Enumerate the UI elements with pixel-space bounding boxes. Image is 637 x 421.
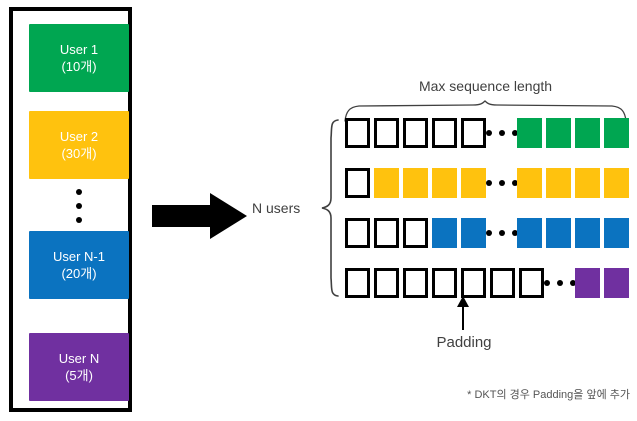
horizontal-ellipsis-icon xyxy=(486,178,518,188)
ellipsis-dot xyxy=(76,203,82,209)
ellipsis-dot xyxy=(499,180,505,186)
vertical-ellipsis-icon xyxy=(29,189,129,223)
sequence-cell xyxy=(517,218,542,248)
max-sequence-length-label: Max sequence length xyxy=(343,78,628,94)
padding-cell xyxy=(403,218,428,248)
sequence-cell xyxy=(575,268,600,298)
user-block-name: User N xyxy=(59,350,99,367)
sequence-row xyxy=(345,168,629,218)
ellipsis-dot xyxy=(557,280,563,286)
padding-pointer-arrow-icon xyxy=(455,296,471,330)
padding-cell xyxy=(345,218,370,248)
sequence-cell xyxy=(604,268,629,298)
user-block-count: (20개) xyxy=(61,265,96,282)
padding-cell xyxy=(374,218,399,248)
sequence-cell xyxy=(432,218,457,248)
right-arrow-icon xyxy=(152,192,248,240)
user-block: User N-1 (20개) xyxy=(29,231,129,299)
n-users-brace xyxy=(320,118,340,298)
user-list-container: User 1 (10개) User 2 (30개) User N-1 (20개)… xyxy=(9,7,132,412)
footnote-text: * DKT의 경우 Padding을 앞에 추가 xyxy=(0,386,630,402)
padding-cell xyxy=(345,118,370,148)
user-block-count: (10개) xyxy=(61,58,96,75)
sequence-cell xyxy=(604,168,629,198)
sequence-cell xyxy=(432,168,457,198)
ellipsis-dot xyxy=(499,230,505,236)
sequence-cell xyxy=(546,218,571,248)
sequence-cell xyxy=(374,168,399,198)
sequence-cell xyxy=(546,168,571,198)
sequence-cell xyxy=(575,118,600,148)
ellipsis-dot xyxy=(76,217,82,223)
ellipsis-dot xyxy=(544,280,550,286)
n-users-label: N users xyxy=(252,200,300,216)
padding-cell xyxy=(461,268,486,298)
user-block-name: User 2 xyxy=(60,128,98,145)
ellipsis-dot xyxy=(486,230,492,236)
ellipsis-dot xyxy=(499,130,505,136)
sequence-row xyxy=(345,268,629,318)
padding-cell xyxy=(432,268,457,298)
padding-cell xyxy=(432,118,457,148)
padding-cell xyxy=(403,118,428,148)
sequence-cell xyxy=(604,118,629,148)
ellipsis-dot xyxy=(486,130,492,136)
sequence-cell xyxy=(546,118,571,148)
padding-cell xyxy=(490,268,515,298)
ellipsis-dot xyxy=(76,189,82,195)
padding-cell xyxy=(345,268,370,298)
sequence-row xyxy=(345,218,629,268)
user-block-count: (30개) xyxy=(61,145,96,162)
padding-cell xyxy=(403,268,428,298)
padding-cell xyxy=(461,118,486,148)
sequence-grid xyxy=(345,118,629,318)
sequence-cell xyxy=(517,168,542,198)
sequence-cell xyxy=(575,218,600,248)
horizontal-ellipsis-icon xyxy=(486,128,518,138)
ellipsis-dot xyxy=(486,180,492,186)
sequence-cell xyxy=(575,168,600,198)
sequence-cell xyxy=(604,218,629,248)
padding-cell xyxy=(345,168,370,198)
sequence-cell xyxy=(403,168,428,198)
user-block-name: User N-1 xyxy=(53,248,105,265)
sequence-row xyxy=(345,118,629,168)
padding-cell xyxy=(519,268,544,298)
sequence-cell xyxy=(461,168,486,198)
sequence-cell xyxy=(461,218,486,248)
padding-cell xyxy=(374,118,399,148)
padding-cell xyxy=(374,268,399,298)
horizontal-ellipsis-icon xyxy=(544,278,576,288)
sequence-cell xyxy=(517,118,542,148)
user-block-count: (5개) xyxy=(65,367,93,384)
user-block: User 2 (30개) xyxy=(29,111,129,179)
user-block: User 1 (10개) xyxy=(29,24,129,92)
horizontal-ellipsis-icon xyxy=(486,228,518,238)
padding-label: Padding xyxy=(408,334,520,351)
user-block-name: User 1 xyxy=(60,41,98,58)
